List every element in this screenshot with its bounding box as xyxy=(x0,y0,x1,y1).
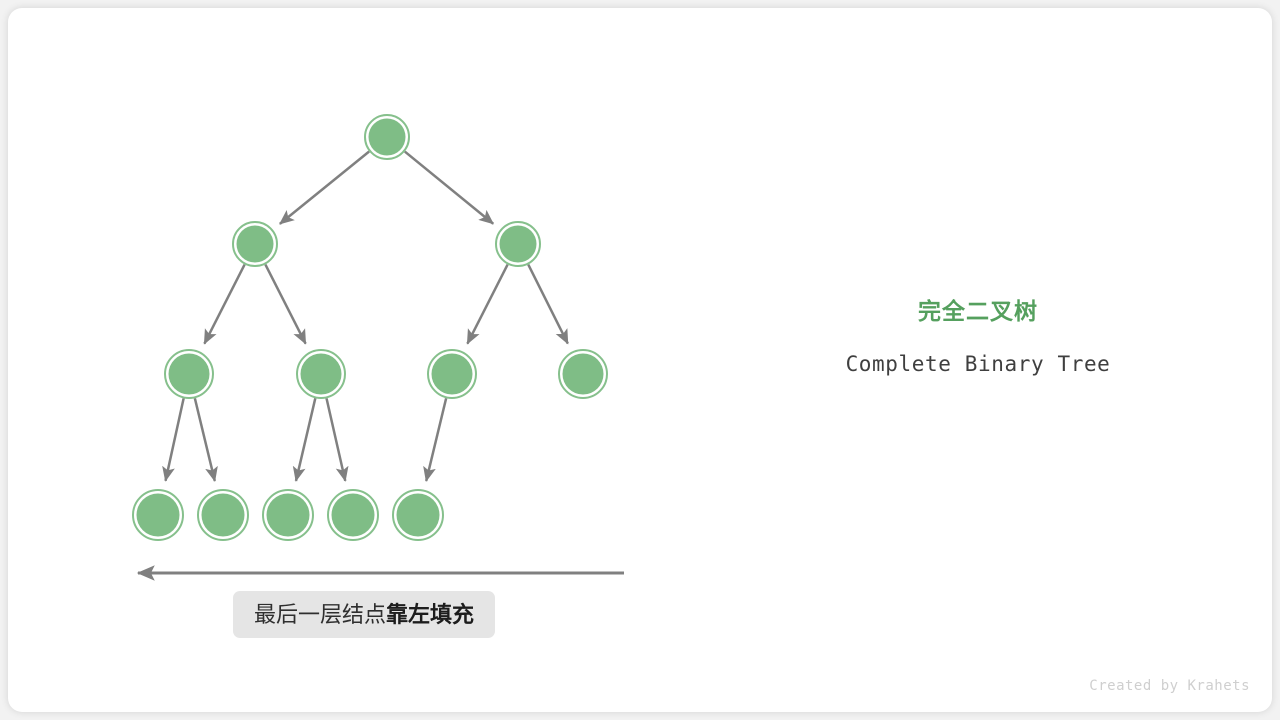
legend-panel: 完全二叉树 Complete Binary Tree xyxy=(768,298,1188,376)
tree-edge xyxy=(166,398,184,480)
tree-edge-layer xyxy=(166,151,568,480)
tree-node-disc xyxy=(332,494,375,537)
tree-edge xyxy=(528,265,568,344)
watermark: Created by Krahets xyxy=(1089,678,1250,694)
tree-node xyxy=(198,490,248,540)
tree-node-disc xyxy=(397,494,440,537)
tree-edge xyxy=(405,152,493,224)
tree-node xyxy=(393,490,443,540)
tree-edge xyxy=(296,398,315,481)
tree-edge xyxy=(265,265,305,344)
tree-node-disc xyxy=(237,226,274,263)
caption-prefix: 最后一层结点 xyxy=(254,602,386,627)
tree-node-disc xyxy=(137,494,180,537)
tree-node xyxy=(428,350,476,398)
tree-node xyxy=(297,350,345,398)
tree-edge xyxy=(204,265,244,344)
tree-node-disc xyxy=(563,354,604,395)
tree-node-disc xyxy=(202,494,245,537)
caption-badge: 最后一层结点靠左填充 xyxy=(233,591,495,638)
tree-node-disc xyxy=(369,119,406,156)
tree-node-disc xyxy=(500,226,537,263)
tree-node xyxy=(133,490,183,540)
tree-node xyxy=(165,350,213,398)
tree-node-disc xyxy=(432,354,473,395)
tree-edge xyxy=(280,151,369,223)
tree-node xyxy=(263,490,313,540)
tree-node xyxy=(496,222,540,266)
tree-node-layer xyxy=(133,115,607,540)
tree-edge xyxy=(327,398,346,480)
tree-edge xyxy=(467,265,507,344)
tree-node xyxy=(559,350,607,398)
tree-node xyxy=(328,490,378,540)
screenshot-canvas: 最后一层结点靠左填充 完全二叉树 Complete Binary Tree Cr… xyxy=(0,0,1280,720)
tree-edge xyxy=(426,398,446,481)
legend-subtitle: Complete Binary Tree xyxy=(768,352,1188,376)
caption-emphasis: 靠左填充 xyxy=(386,602,474,627)
tree-node xyxy=(233,222,277,266)
tree-node-disc xyxy=(301,354,342,395)
tree-node xyxy=(365,115,409,159)
tree-node-disc xyxy=(169,354,210,395)
tree-node-disc xyxy=(267,494,310,537)
legend-title: 完全二叉树 xyxy=(768,298,1188,326)
tree-edge xyxy=(195,398,215,481)
diagram-card: 最后一层结点靠左填充 完全二叉树 Complete Binary Tree Cr… xyxy=(8,8,1272,712)
